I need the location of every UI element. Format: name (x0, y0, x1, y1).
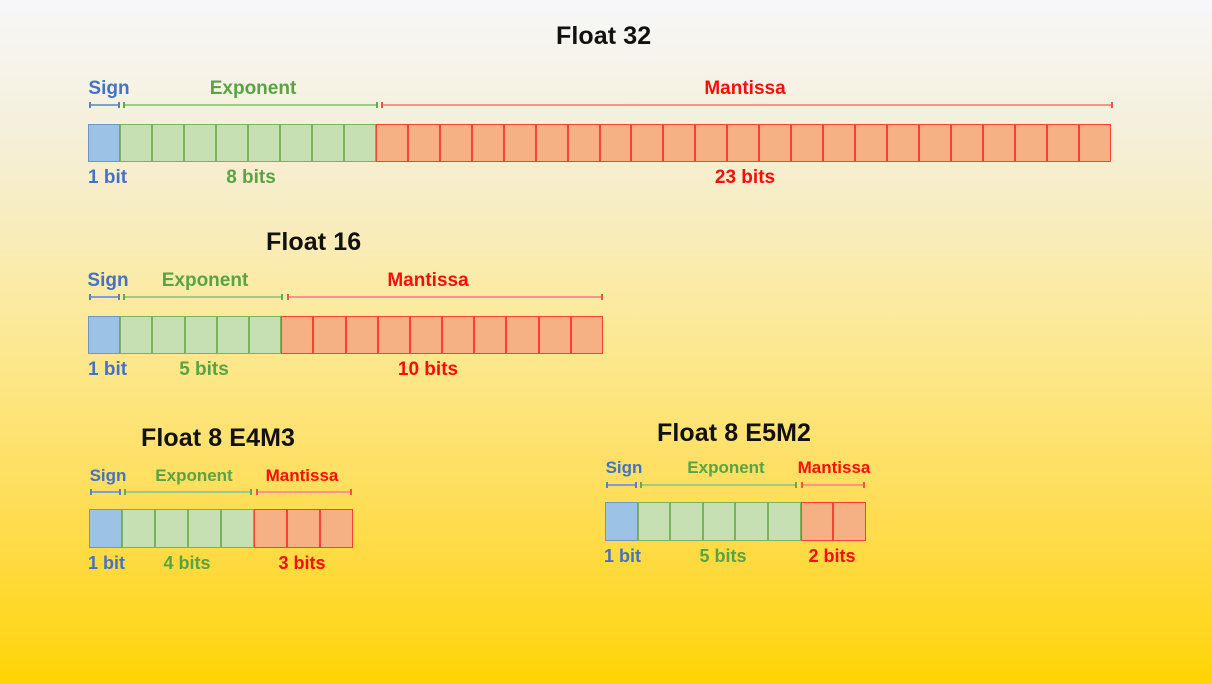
mantissa-bit-cell (320, 509, 353, 548)
exponent-bit-cell (768, 502, 801, 541)
mantissa-bit-cell (378, 316, 410, 354)
mantissa-bit-cell (568, 124, 600, 162)
float8-e5m2-sign-rule (606, 484, 637, 486)
mantissa-bit-cell (919, 124, 951, 162)
float8-e4m3-sign-bits-label: 1 bit (88, 553, 125, 574)
sign-bit-cell (88, 124, 120, 162)
float8-e4m3-exponent-rule (124, 491, 252, 493)
exponent-bit-cell (249, 316, 281, 354)
sign-bit-cell (88, 316, 120, 354)
float8-e5m2-bit-bar (605, 502, 866, 541)
float8-e4m3-mantissa-bits-label: 3 bits (278, 553, 325, 574)
float16-mantissa-label: Mantissa (387, 270, 468, 292)
float16-exponent-label: Exponent (162, 270, 249, 292)
exponent-bit-cell (312, 124, 344, 162)
float16-title: Float 16 (266, 228, 361, 257)
mantissa-bit-cell (346, 316, 378, 354)
exponent-bit-cell (217, 316, 249, 354)
float8-e4m3-sign-label: Sign (90, 466, 127, 486)
float16-exponent-rule (123, 296, 283, 298)
mantissa-bit-cell (281, 316, 313, 354)
float8-e4m3-bit-bar (89, 509, 353, 548)
mantissa-bit-cell (600, 124, 632, 162)
float32-sign-bits-label: 1 bit (88, 167, 127, 189)
mantissa-bit-cell (855, 124, 887, 162)
mantissa-bit-cell (951, 124, 983, 162)
float8-e4m3-mantissa-label: Mantissa (266, 466, 339, 486)
mantissa-bit-cell (887, 124, 919, 162)
float32-exponent-label: Exponent (210, 78, 297, 100)
exponent-bit-cell (152, 124, 184, 162)
mantissa-bit-cell (571, 316, 603, 354)
mantissa-bit-cell (504, 124, 536, 162)
float8-e5m2-mantissa-label: Mantissa (798, 458, 871, 478)
exponent-bit-cell (703, 502, 736, 541)
float16-sign-label: Sign (87, 270, 128, 292)
float32-sign-rule (89, 104, 120, 106)
mantissa-bit-cell (801, 502, 834, 541)
float8-e5m2-sign-label: Sign (606, 458, 643, 478)
sign-bit-cell (89, 509, 122, 548)
float16-sign-bits-label: 1 bit (88, 359, 127, 381)
float8-e4m3-title: Float 8 E4M3 (141, 424, 295, 453)
mantissa-bit-cell (536, 124, 568, 162)
float8-e5m2-sign-bits-label: 1 bit (604, 546, 641, 567)
mantissa-bit-cell (474, 316, 506, 354)
float16-bit-bar (88, 316, 603, 354)
mantissa-bit-cell (440, 124, 472, 162)
float32-exponent-bits-label: 8 bits (226, 167, 276, 189)
exponent-bit-cell (280, 124, 312, 162)
float8-e4m3-sign-rule (90, 491, 121, 493)
mantissa-bit-cell (472, 124, 504, 162)
mantissa-bit-cell (631, 124, 663, 162)
float32-mantissa-bits-label: 23 bits (715, 167, 775, 189)
float8-e4m3-mantissa-rule (256, 491, 352, 493)
float8-e5m2-mantissa-rule (801, 484, 865, 486)
exponent-bit-cell (155, 509, 188, 548)
float8-e5m2-mantissa-bits-label: 2 bits (808, 546, 855, 567)
mantissa-bit-cell (833, 502, 866, 541)
float16-sign-rule (89, 296, 120, 298)
float8-e4m3-exponent-label: Exponent (155, 466, 232, 486)
float8-e5m2-title: Float 8 E5M2 (657, 419, 811, 448)
exponent-bit-cell (216, 124, 248, 162)
exponent-bit-cell (120, 316, 152, 354)
mantissa-bit-cell (759, 124, 791, 162)
mantissa-bit-cell (663, 124, 695, 162)
exponent-bit-cell (344, 124, 376, 162)
mantissa-bit-cell (695, 124, 727, 162)
float16-exponent-bits-label: 5 bits (179, 359, 229, 381)
float8-e5m2-exponent-label: Exponent (687, 458, 764, 478)
exponent-bit-cell (735, 502, 768, 541)
mantissa-bit-cell (254, 509, 287, 548)
exponent-bit-cell (670, 502, 703, 541)
mantissa-bit-cell (287, 509, 320, 548)
float32-mantissa-rule (381, 104, 1113, 106)
float16-mantissa-rule (287, 296, 603, 298)
mantissa-bit-cell (506, 316, 538, 354)
float32-sign-label: Sign (88, 78, 129, 100)
exponent-bit-cell (120, 124, 152, 162)
exponent-bit-cell (122, 509, 155, 548)
float16-mantissa-bits-label: 10 bits (398, 359, 458, 381)
exponent-bit-cell (185, 316, 217, 354)
mantissa-bit-cell (727, 124, 759, 162)
mantissa-bit-cell (1079, 124, 1111, 162)
mantissa-bit-cell (408, 124, 440, 162)
mantissa-bit-cell (539, 316, 571, 354)
exponent-bit-cell (221, 509, 254, 548)
mantissa-bit-cell (376, 124, 408, 162)
mantissa-bit-cell (313, 316, 345, 354)
mantissa-bit-cell (442, 316, 474, 354)
float32-exponent-rule (123, 104, 378, 106)
mantissa-bit-cell (791, 124, 823, 162)
float32-title: Float 32 (556, 22, 651, 51)
sign-bit-cell (605, 502, 638, 541)
exponent-bit-cell (184, 124, 216, 162)
mantissa-bit-cell (410, 316, 442, 354)
exponent-bit-cell (638, 502, 671, 541)
mantissa-bit-cell (983, 124, 1015, 162)
exponent-bit-cell (188, 509, 221, 548)
mantissa-bit-cell (1047, 124, 1079, 162)
mantissa-bit-cell (1015, 124, 1047, 162)
float32-bit-bar (88, 124, 1113, 162)
diagram-canvas: Float 32 Sign Exponent Mantissa 1 bit 8 … (0, 0, 1212, 684)
float8-e5m2-exponent-rule (640, 484, 797, 486)
exponent-bit-cell (248, 124, 280, 162)
mantissa-bit-cell (823, 124, 855, 162)
float8-e4m3-exponent-bits-label: 4 bits (163, 553, 210, 574)
float32-mantissa-label: Mantissa (704, 78, 785, 100)
float8-e5m2-exponent-bits-label: 5 bits (699, 546, 746, 567)
exponent-bit-cell (152, 316, 184, 354)
